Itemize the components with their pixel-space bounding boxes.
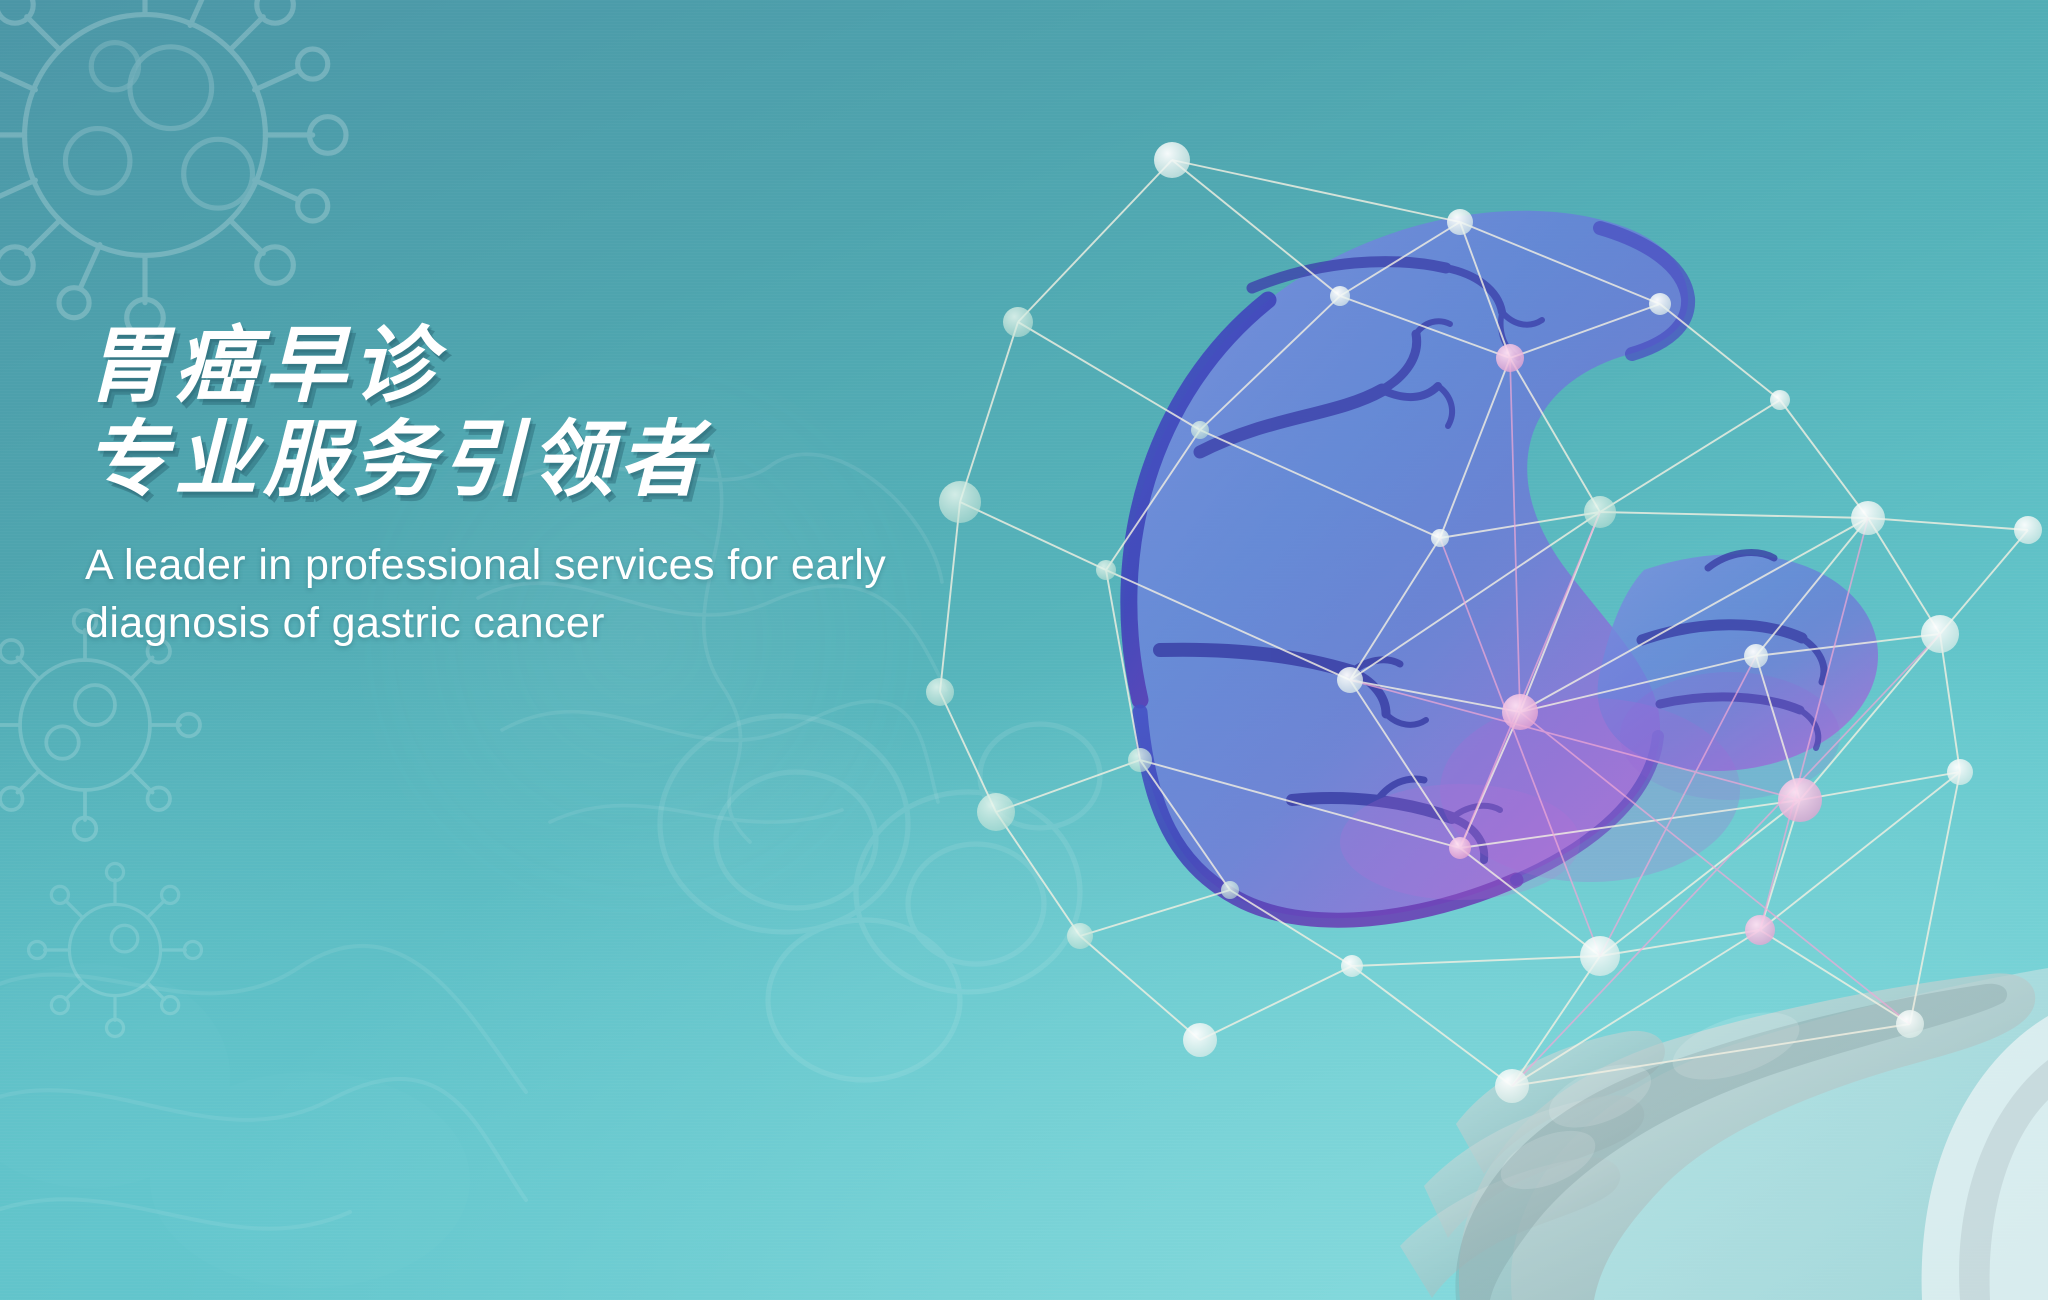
stomach-hand-artwork	[900, 100, 2048, 1300]
banner-root: 胃癌早诊 专业服务引领者 A leader in professional se…	[0, 0, 2048, 1300]
wisp-strand-decor	[0, 900, 530, 1300]
subtitle-line-2: diagnosis of gastric cancer	[85, 594, 1085, 652]
headline-line-1: 胃癌早诊	[85, 322, 1085, 410]
subtitle: A leader in professional services for ea…	[85, 536, 1085, 652]
hero-text-block: 胃癌早诊 专业服务引领者 A leader in professional se…	[85, 322, 1085, 652]
stomach-illustration	[1124, 211, 1878, 920]
subtitle-line-1: A leader in professional services for ea…	[85, 536, 1085, 594]
virus-outline-icon	[0, 0, 360, 350]
virus-outline-icon	[20, 855, 210, 1045]
headline-line-2: 专业服务引领者	[85, 416, 1085, 504]
